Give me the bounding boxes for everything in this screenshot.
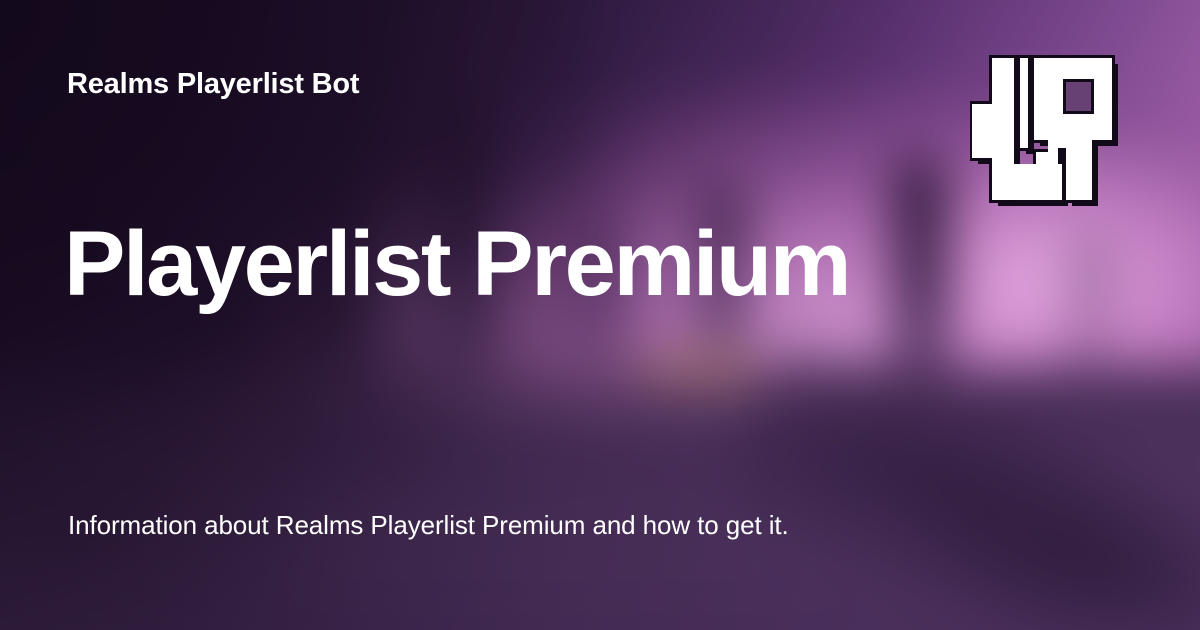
card-content: Realms Playerlist Bot Playerlist Premium…	[0, 0, 1200, 630]
social-preview-card: Realms Playerlist Bot Playerlist Premium…	[0, 0, 1200, 630]
site-name: Realms Playerlist Bot	[67, 68, 359, 101]
brand-logo-icon	[970, 52, 1120, 214]
realms-playerlist-logo-svg	[970, 52, 1120, 214]
page-title: Playerlist Premium	[64, 216, 849, 313]
page-description: Information about Realms Playerlist Prem…	[68, 510, 789, 541]
logo-counter	[1063, 79, 1094, 114]
